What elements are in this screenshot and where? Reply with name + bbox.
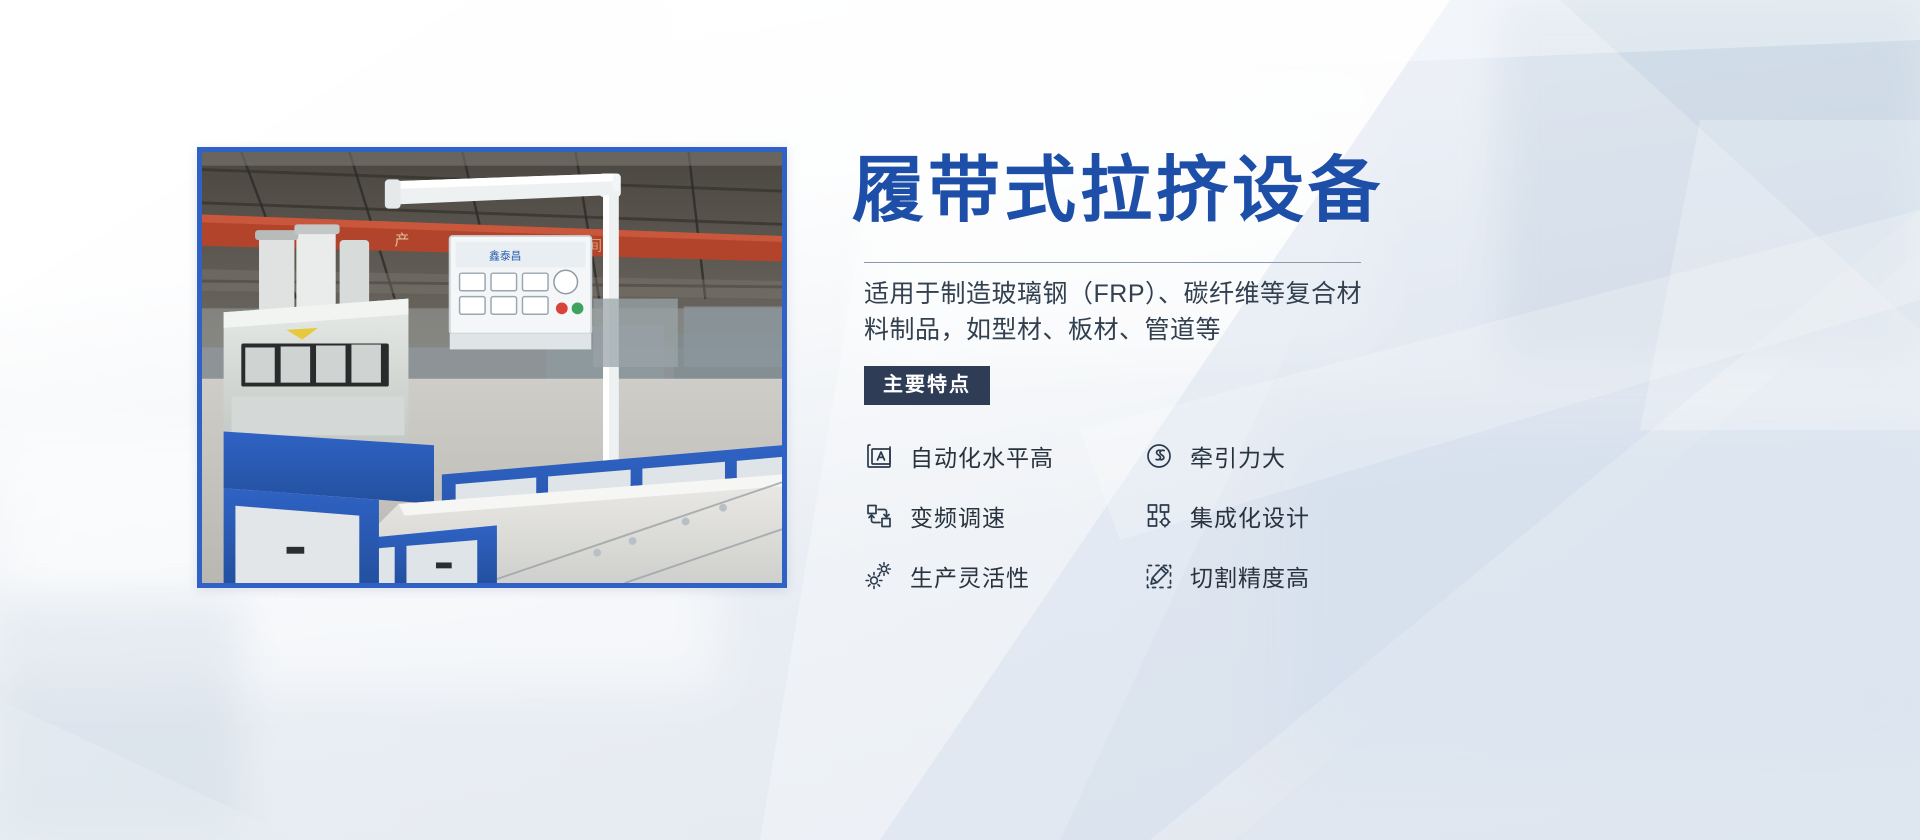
production-flexibility-gears-icon	[864, 561, 894, 591]
traction-waves-circle-icon	[1144, 441, 1174, 471]
product-banner: 生 产 车 间	[0, 0, 1920, 840]
feature-item-automation: 自动化水平高	[864, 439, 1144, 473]
integrated-design-nodes-icon	[1144, 501, 1174, 531]
photo-image: 生 产 车 间	[202, 152, 782, 583]
feature-label: 牵引力大	[1190, 439, 1286, 473]
feature-item-integrated-design: 集成化设计	[1144, 499, 1384, 533]
feature-label: 集成化设计	[1190, 499, 1310, 533]
description-line-1: 适用于制造玻璃钢（FRP）、碳纤维等复合材	[864, 277, 1364, 313]
feature-item-flexibility: 生产灵活性	[864, 559, 1144, 593]
feature-label: 变频调速	[910, 499, 1006, 533]
feature-item-cutting-precision: 切割精度高	[1144, 559, 1384, 593]
page-title: 履带式拉挤设备	[852, 155, 1412, 228]
description-line-2: 料制品，如型材、板材、管道等	[864, 313, 1364, 349]
status-badge: 主要特点	[864, 366, 990, 405]
frequency-conversion-refresh-icon	[864, 501, 894, 531]
feature-label: 切割精度高	[1190, 559, 1310, 593]
feature-item-frequency: 变频调速	[864, 499, 1144, 533]
feature-list: 自动化水平高 牵引力大	[864, 439, 1384, 593]
title-divider	[864, 262, 1361, 263]
feature-label: 生产灵活性	[910, 559, 1030, 593]
feature-label: 自动化水平高	[910, 439, 1054, 473]
product-description: 适用于制造玻璃钢（FRP）、碳纤维等复合材 料制品，如型材、板材、管道等	[864, 277, 1364, 348]
feature-item-traction: 牵引力大	[1144, 439, 1384, 473]
cutting-precision-pen-icon	[1144, 561, 1174, 591]
banner-content: 履带式拉挤设备 适用于制造玻璃钢（FRP）、碳纤维等复合材 料制品，如型材、板材…	[852, 155, 1412, 593]
pultrusion-line-photo: 生 产 车 间	[197, 147, 787, 588]
automation-square-a-icon	[864, 441, 894, 471]
